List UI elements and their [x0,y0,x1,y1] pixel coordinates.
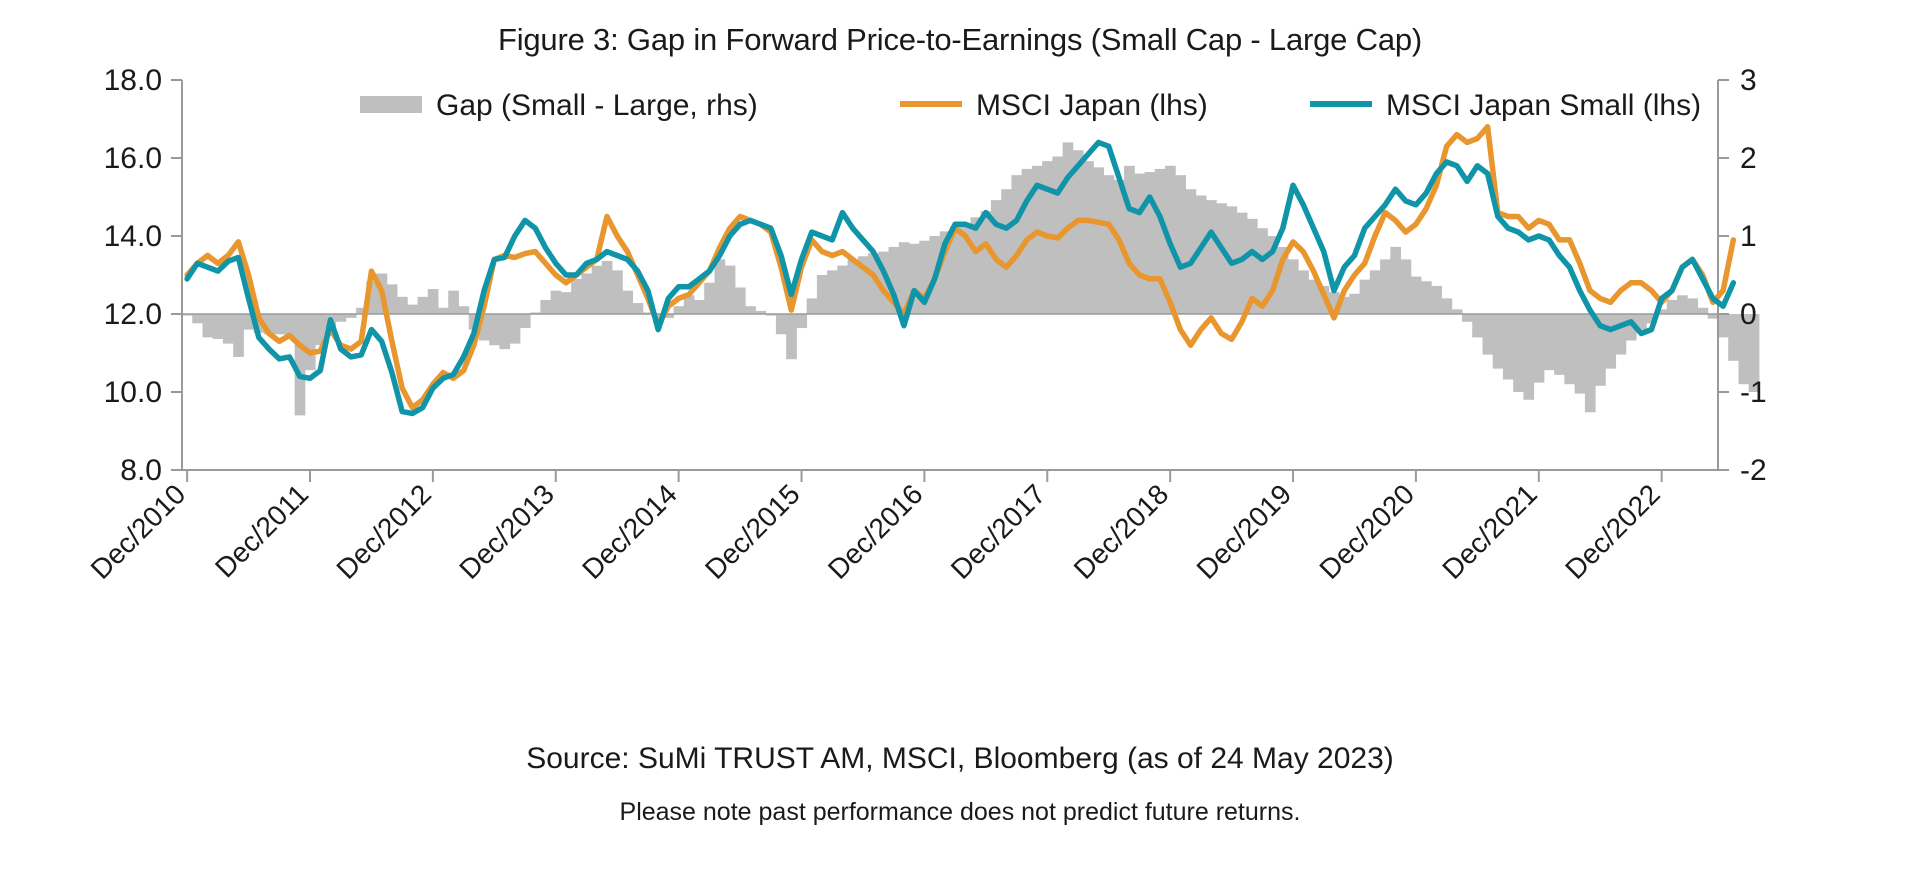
x-axis-tick-label: Dec/2012 [330,478,437,580]
y-axis-right-tick: 1 [1740,220,1757,253]
y-axis-left-tick: 8.0 [120,454,162,487]
figure-container: Figure 3: Gap in Forward Price-to-Earnin… [0,0,1920,891]
legend-item[interactable]: MSCI Japan (lhs) [900,89,1208,122]
chart-plot-area: 18.016.014.012.010.08.0 3210-1-2 Dec/201… [0,60,1920,580]
x-axis-tick-label: Dec/2011 [209,478,314,580]
x-axis-tick-label: Dec/2014 [576,478,683,580]
x-axis-tick-label: Dec/2022 [1559,478,1666,580]
legend-label: MSCI Japan (lhs) [976,89,1208,122]
source-note: Source: SuMi TRUST AM, MSCI, Bloomberg (… [0,742,1920,776]
legend-label: MSCI Japan Small (lhs) [1386,89,1701,122]
legend-bar-swatch [360,96,422,113]
x-axis-tick-label: Dec/2010 [85,478,192,580]
y-axis-left-labels: 18.016.014.012.010.08.0 [104,64,162,487]
x-axis-tick-label: Dec/2015 [699,478,806,580]
bar-series-gap [182,142,1759,415]
x-axis-tick-labels: Dec/2010Dec/2011Dec/2012Dec/2013Dec/2014… [85,478,1666,580]
x-axis-tick-label: Dec/2016 [822,478,929,580]
legend-item[interactable]: Gap (Small - Large, rhs) [360,89,758,122]
x-axis-tick-label: Dec/2013 [453,478,560,580]
chart-svg: 18.016.014.012.010.08.0 3210-1-2 Dec/201… [0,60,1920,580]
y-axis-left-tick: 14.0 [104,220,162,253]
x-axis-tick-label: Dec/2020 [1313,478,1420,580]
y-axis-right-tick: 3 [1740,64,1757,97]
y-axis-left-tick: 12.0 [104,298,162,331]
legend-label: Gap (Small - Large, rhs) [436,89,758,122]
y-axis-right-tick: 0 [1740,298,1757,331]
y-axis-right-tick: 2 [1740,142,1757,175]
chart-legend: Gap (Small - Large, rhs)MSCI Japan (lhs)… [360,89,1701,122]
x-axis-tick-label: Dec/2017 [945,478,1052,580]
y-axis-left-tick: 10.0 [104,376,162,409]
y-axis-left-tick: 16.0 [104,142,162,175]
x-axis-tick-label: Dec/2021 [1436,478,1543,580]
x-axis-tick-label: Dec/2019 [1191,478,1298,580]
disclaimer-note: Please note past performance does not pr… [0,798,1920,827]
y-axis-right-tick: -1 [1740,376,1767,409]
page-title: Figure 3: Gap in Forward Price-to-Earnin… [0,22,1920,58]
y-axis-left-tick: 18.0 [104,64,162,97]
y-axis-right-tick: -2 [1740,454,1767,487]
y-axis-right-labels: 3210-1-2 [1740,64,1767,487]
x-axis-tick-label: Dec/2018 [1068,478,1175,580]
legend-item[interactable]: MSCI Japan Small (lhs) [1310,89,1701,122]
